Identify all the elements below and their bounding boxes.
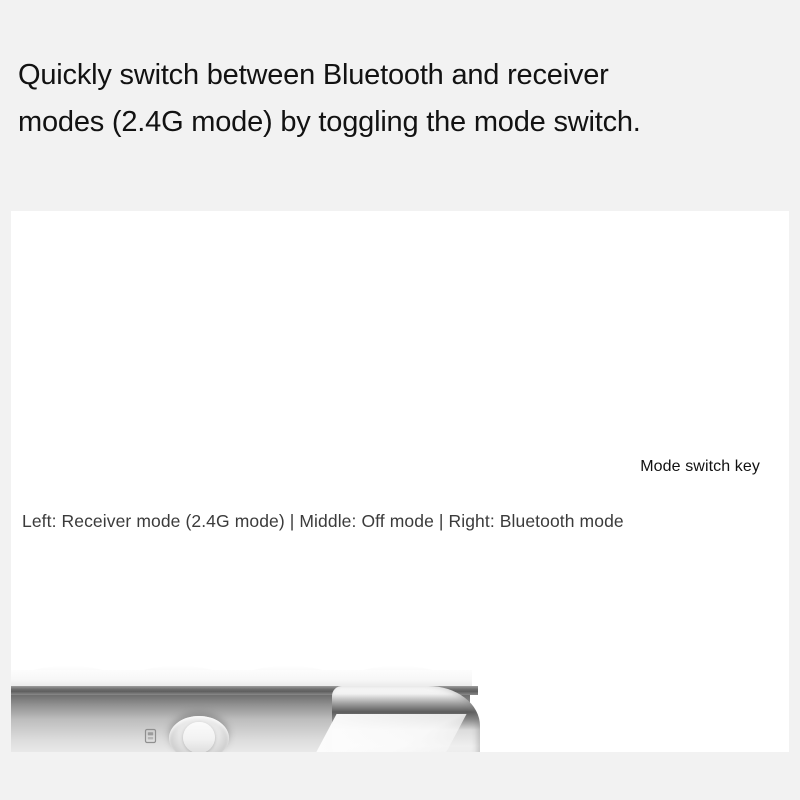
keyboard-body xyxy=(11,656,522,752)
connector-port-icon xyxy=(144,728,157,744)
product-illustration-card: Mode switch key Left: Receiver mode (2.4… xyxy=(11,211,789,752)
keyboard-top-deck xyxy=(11,670,472,686)
mode-switch-key-label: Mode switch key xyxy=(640,456,760,478)
mode-positions-label: Left: Receiver mode (2.4G mode) | Middle… xyxy=(22,509,624,533)
mode-switch-toggle[interactable] xyxy=(183,722,215,752)
page-heading: Quickly switch between Bluetooth and rec… xyxy=(18,52,782,146)
keyboard-side-view-photo xyxy=(22,631,789,752)
